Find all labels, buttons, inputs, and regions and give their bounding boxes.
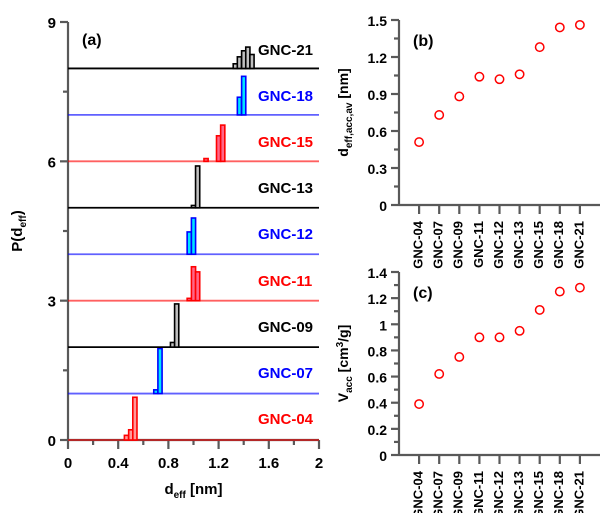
panel-b-category-label: GNC-11 [471,221,486,268]
panel-a-series-label-gnc-11: GNC-11 [258,273,312,290]
histogram-bar [191,218,195,254]
panel-b-y-ticklabel: 1.5 [368,13,388,29]
data-point [415,138,423,146]
panel-b-category-label: GNC-12 [491,221,506,269]
panel-c-category-label: GNC-15 [531,471,546,513]
data-point [475,333,483,341]
data-point [556,287,564,295]
histogram-bar [175,304,179,347]
panel-a-x-ticklabel: 0.4 [108,455,130,472]
panel-b-y-ticklabel: 1.2 [368,50,388,66]
panel-a-series-label-gnc-12: GNC-12 [258,226,313,243]
panel-b-category-label: GNC-18 [551,221,566,269]
panel-b-y-ticklabel: 0.6 [368,124,388,140]
panel-b: 00.30.60.91.21.5GNC-04GNC-07GNC-09GNC-11… [335,13,600,269]
data-point [495,75,503,83]
panel-c-category-label: GNC-12 [491,471,506,513]
panel-a-series-label-gnc-15: GNC-15 [258,134,313,151]
data-point [536,306,544,314]
histogram-bar [204,159,208,162]
panel-c-category-label: GNC-07 [431,471,446,513]
data-point [455,353,463,361]
histogram-bar [196,272,200,301]
data-point [515,70,523,78]
panel-b-category-label: GNC-04 [411,220,426,268]
panel-b-category-label: GNC-21 [571,221,586,269]
panel-b-y-ticklabel: 0.9 [368,87,388,103]
figure-canvas: 036900.40.81.21.62GNC-04GNC-07GNC-09GNC-… [0,0,613,513]
histogram-bar [196,166,200,208]
histogram-bar [242,76,246,115]
panel-b-category-label: GNC-07 [431,221,446,269]
panel-c-y-ticklabel: 1 [379,317,387,333]
panel-c-category-label: GNC-04 [411,470,426,513]
panel-a-label: (a) [82,32,102,49]
panel-a: 036900.40.81.21.62GNC-04GNC-07GNC-09GNC-… [9,15,323,501]
panel-c-y-ticklabel: 0 [379,448,387,464]
figure-root: 036900.40.81.21.62GNC-04GNC-07GNC-09GNC-… [0,0,613,513]
data-point [576,21,584,29]
panel-a-y-axis-title: P(deff) [9,210,29,251]
panel-c-y-ticklabel: 0.8 [368,343,388,359]
panel-c: 00.20.40.60.811.21.4GNC-04GNC-07GNC-09GN… [335,265,600,513]
panel-c-category-label: GNC-09 [451,471,466,513]
panel-c-category-label: GNC-21 [571,471,586,513]
panel-a-x-ticklabel: 1.6 [258,455,279,472]
panel-c-label: (c) [413,285,433,302]
panel-a-x-ticklabel: 2 [315,455,323,472]
histogram-bar [221,125,225,161]
panel-a-series-label-gnc-18: GNC-18 [258,88,313,105]
panel-c-category-label: GNC-18 [551,471,566,513]
panel-a-series-label-gnc-07: GNC-07 [258,365,313,382]
panel-c-category-label: GNC-13 [511,471,526,513]
panel-b-category-label: GNC-15 [531,221,546,269]
panel-c-category-label: GNC-11 [471,471,486,513]
panel-a-x-ticklabel: 0.8 [158,455,179,472]
data-point [576,283,584,291]
panel-b-category-label: GNC-13 [511,221,526,269]
data-point [515,327,523,335]
panel-a-y-ticklabel: 9 [48,15,56,32]
data-point [415,400,423,408]
panel-a-series-label-gnc-21: GNC-21 [258,42,313,59]
panel-a-series-label-gnc-13: GNC-13 [258,180,313,197]
panel-a-series-label-gnc-04: GNC-04 [258,411,314,428]
data-point [435,370,443,378]
data-point [435,111,443,119]
panel-a-y-ticklabel: 0 [48,433,56,450]
panel-a-x-ticklabel: 1.2 [208,455,229,472]
panel-c-y-ticklabel: 0.6 [368,370,388,386]
panel-c-y-ticklabel: 1.2 [368,291,388,307]
data-point [475,73,483,81]
panel-b-y-ticklabel: 0.3 [368,161,388,177]
histogram-bar [250,55,254,69]
data-point [455,92,463,100]
panel-b-category-label: GNC-09 [451,221,466,269]
panel-a-x-axis-title: deff [nm] [164,481,222,501]
data-point [536,43,544,51]
histogram-bar [158,349,162,394]
panel-a-x-ticklabel: 0 [64,455,72,472]
panel-c-y-axis-title: Vacc [cm3/g] [335,325,355,403]
panel-b-y-ticklabel: 0 [379,198,387,214]
data-point [556,23,564,31]
panel-c-y-ticklabel: 1.4 [368,265,388,281]
panel-c-y-ticklabel: 0.4 [368,396,388,412]
histogram-bar [133,397,137,440]
panel-b-y-axis-title: deff,acc,av [nm] [335,68,355,156]
panel-a-series-label-gnc-09: GNC-09 [258,319,313,336]
panel-a-y-ticklabel: 6 [48,154,56,171]
panel-b-label: (b) [413,33,433,50]
data-point [495,333,503,341]
panel-c-y-ticklabel: 0.2 [368,422,388,438]
panel-a-y-ticklabel: 3 [48,294,56,311]
